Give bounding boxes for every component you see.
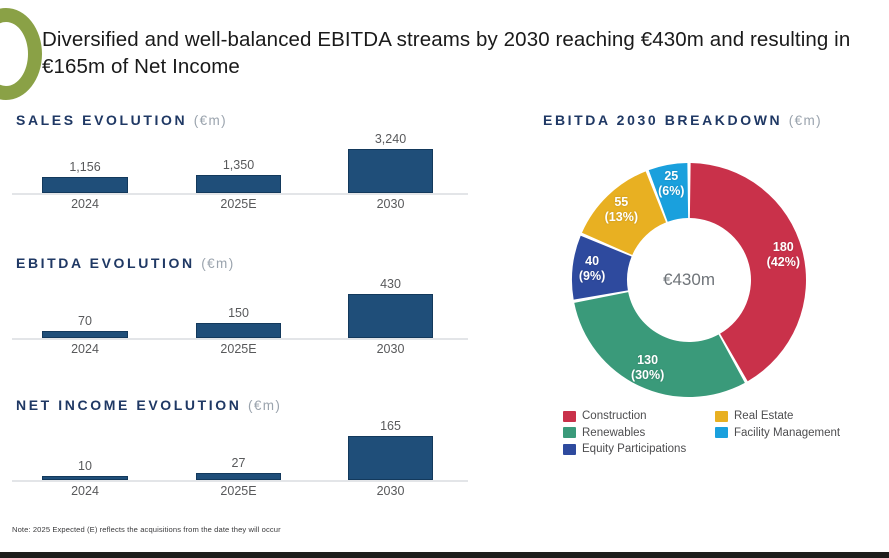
- brand-logo-icon: [0, 8, 42, 100]
- bar-category-label: 2025E: [196, 342, 281, 356]
- ebitda-chart-title-text: EBITDA EVOLUTION: [16, 255, 195, 271]
- ebitda-bar-chart: 7020241502025E4302030: [12, 283, 468, 358]
- donut-slice-label: 55(13%): [581, 195, 661, 225]
- breakdown-chart-title-text: EBITDA 2030 BREAKDOWN: [543, 112, 782, 128]
- bar-2030: [348, 436, 433, 480]
- chart-axis-line: [12, 193, 468, 195]
- slide-canvas: Diversified and well-balanced EBITDA str…: [0, 0, 889, 558]
- ebitda-chart-unit: (€m): [201, 256, 234, 271]
- page-title: Diversified and well-balanced EBITDA str…: [42, 26, 872, 80]
- sales-chart-unit: (€m): [194, 113, 227, 128]
- ebitda-breakdown-donut-chart: €430m 180(42%)130(30%)40(9%)55(13%)25(6%…: [566, 156, 812, 404]
- chart-axis-line: [12, 338, 468, 340]
- bar-value-label: 1,156: [42, 160, 128, 174]
- net-income-bar-chart: 102024272025E1652030: [12, 425, 468, 500]
- bar-value-label: 27: [196, 456, 281, 470]
- bar-category-label: 2025E: [196, 197, 281, 211]
- slice-value-label: 180: [743, 240, 823, 255]
- legend-swatch-icon: [563, 427, 576, 438]
- legend-swatch-icon: [563, 411, 576, 422]
- bar-category-label: 2024: [42, 342, 128, 356]
- bar-category-label: 2024: [42, 197, 128, 211]
- bar-value-label: 165: [348, 419, 433, 433]
- slice-percent-label: (13%): [581, 210, 661, 225]
- footnote: Note: 2025 Expected (E) reflects the acq…: [12, 525, 281, 534]
- donut-slice-label: 130(30%): [608, 353, 688, 383]
- chart-axis-line: [12, 480, 468, 482]
- slice-value-label: 25: [631, 169, 711, 184]
- legend-item-renewables[interactable]: Renewables: [563, 425, 715, 442]
- slice-percent-label: (42%): [743, 255, 823, 270]
- bar-2025E: [196, 175, 281, 193]
- breakdown-chart-title: EBITDA 2030 BREAKDOWN (€m): [543, 112, 822, 128]
- breakdown-chart-unit: (€m): [789, 113, 822, 128]
- donut-legend: ConstructionReal EstateRenewablesFacilit…: [563, 408, 883, 458]
- bar-2024: [42, 476, 128, 480]
- sales-chart-title: SALES EVOLUTION (€m): [16, 112, 227, 128]
- legend-swatch-icon: [715, 411, 728, 422]
- donut-slice-label: 25(6%): [631, 169, 711, 199]
- bar-value-label: 70: [42, 314, 128, 328]
- legend-item-construction[interactable]: Construction: [563, 408, 715, 425]
- legend-swatch-icon: [715, 427, 728, 438]
- legend-label: Equity Participations: [582, 443, 686, 455]
- slice-value-label: 130: [608, 353, 688, 368]
- ebitda-chart-title: EBITDA EVOLUTION (€m): [16, 255, 235, 271]
- slice-percent-label: (6%): [631, 184, 711, 199]
- legend-label: Real Estate: [734, 410, 793, 422]
- sales-chart-title-text: SALES EVOLUTION: [16, 112, 187, 128]
- bar-category-label: 2025E: [196, 484, 281, 498]
- bar-value-label: 430: [348, 277, 433, 291]
- legend-swatch-icon: [563, 444, 576, 455]
- net-income-chart-title-text: NET INCOME EVOLUTION: [16, 397, 241, 413]
- legend-item-facility-management[interactable]: Facility Management: [715, 425, 883, 442]
- legend-item-equity-participations[interactable]: Equity Participations: [563, 441, 715, 458]
- net-income-chart-title: NET INCOME EVOLUTION (€m): [16, 397, 281, 413]
- bar-value-label: 3,240: [348, 132, 433, 146]
- donut-slice-label: 40(9%): [552, 254, 632, 284]
- net-income-chart-unit: (€m): [248, 398, 281, 413]
- legend-label: Facility Management: [734, 427, 840, 439]
- bar-2024: [42, 331, 128, 338]
- bar-2030: [348, 149, 433, 193]
- legend-label: Renewables: [582, 427, 645, 439]
- bar-category-label: 2030: [348, 197, 433, 211]
- slice-value-label: 40: [552, 254, 632, 269]
- bar-category-label: 2024: [42, 484, 128, 498]
- bar-value-label: 1,350: [196, 158, 281, 172]
- donut-slice-label: 180(42%): [743, 240, 823, 270]
- bar-2025E: [196, 473, 281, 480]
- slice-percent-label: (9%): [552, 269, 632, 284]
- legend-item-real-estate[interactable]: Real Estate: [715, 408, 883, 425]
- bar-value-label: 10: [42, 459, 128, 473]
- bar-value-label: 150: [196, 306, 281, 320]
- bar-2025E: [196, 323, 281, 338]
- bar-2030: [348, 294, 433, 338]
- slice-percent-label: (30%): [608, 368, 688, 383]
- bar-2024: [42, 177, 128, 193]
- bar-category-label: 2030: [348, 484, 433, 498]
- bottom-rule: [0, 552, 889, 558]
- legend-label: Construction: [582, 410, 647, 422]
- sales-bar-chart: 1,15620241,3502025E3,2402030: [12, 138, 468, 213]
- bar-category-label: 2030: [348, 342, 433, 356]
